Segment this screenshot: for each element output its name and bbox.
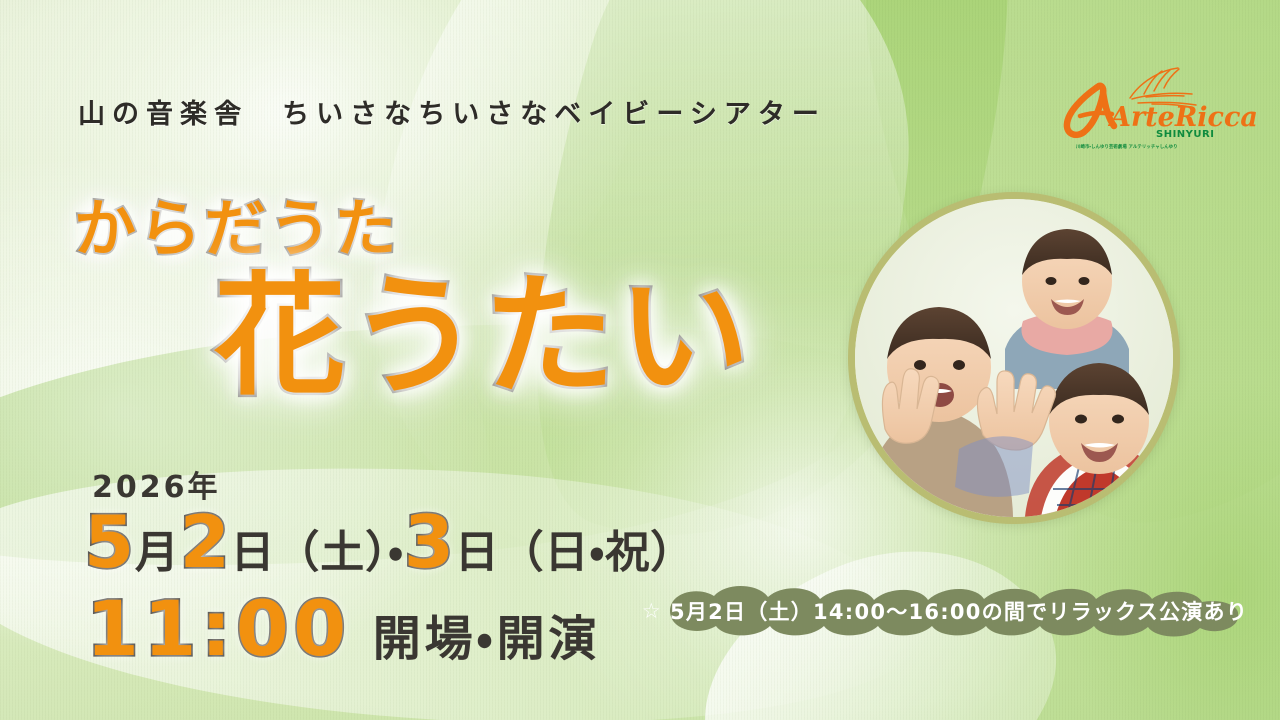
title-karadauta: からだうた: [74, 178, 400, 268]
date-day2-number: 3: [404, 500, 455, 584]
banner-text-row: ☆ 5月2日（土）14:00〜16:00の間でリラックス公演あり: [640, 584, 1250, 638]
time-hour: 11: [86, 584, 201, 673]
logo-tiny-text: 川崎市・しんゆり芸術劇場 アルテリッチャしんゆり: [1076, 144, 1178, 150]
time-minute: 00: [236, 584, 351, 673]
time-label: 開場・開演: [373, 599, 601, 669]
babies-photo-illustration: [855, 199, 1173, 517]
babies-photo: [848, 192, 1180, 524]
event-date-line: 5 月 2 日（土）・ 3 日（日・祝）: [84, 500, 695, 584]
relax-performance-banner: ☆ 5月2日（土）14:00〜16:00の間でリラックス公演あり: [640, 584, 1250, 638]
date-month-label: 月: [135, 516, 180, 580]
logo-subtext: SHINYURI: [1156, 129, 1214, 140]
series-subtitle: 山の音楽舎 ちいさなちいさなベイビーシアター: [78, 92, 826, 131]
banner-note-text: 5月2日（土）14:00〜16:00の間でリラックス公演あり: [670, 596, 1248, 626]
title-hanautai: 花うたい: [214, 268, 753, 407]
date-day1-number: 2: [180, 500, 231, 584]
gingham-fabric: [955, 436, 1033, 497]
date-day1-label: 日（土）・: [231, 516, 404, 580]
poster-root: 山の音楽舎 ちいさなちいさなベイビーシアター ArteRicca: [0, 0, 1280, 720]
star-icon: ☆: [642, 599, 662, 623]
date-month-number: 5: [84, 500, 135, 584]
event-time-line: 11 : 00 開場・開演: [86, 584, 600, 673]
time-colon: :: [201, 584, 236, 673]
date-day2-label: 日（日・祝）: [455, 516, 695, 580]
arte-ricca-logo[interactable]: ArteRicca SHINYURI 川崎市・しんゆり芸術劇場 アルテリッチャし…: [1058, 58, 1228, 150]
logo-letter-a: [1067, 86, 1114, 135]
